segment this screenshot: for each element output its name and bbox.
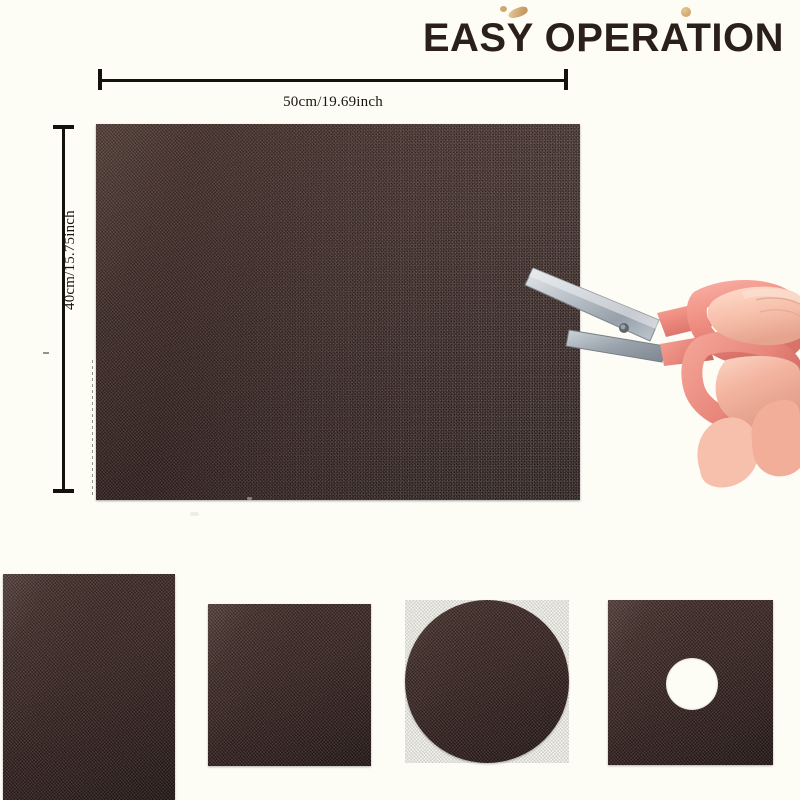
height-dimension-cap-top [53, 125, 74, 129]
cut-shape-circle [405, 600, 569, 763]
height-dimension-label: 40cm/15.75inch [62, 210, 79, 310]
dust-speck [190, 512, 199, 516]
width-dimension-line [98, 79, 568, 82]
cut-shape-square [208, 604, 371, 766]
hand-fingers [698, 287, 800, 488]
edge-guide-tick [43, 352, 49, 354]
edge-guide-dashes [92, 360, 93, 495]
dust-speck [247, 497, 252, 500]
scissors-pivot-screw [619, 323, 629, 333]
cut-shape-rectangle [3, 574, 175, 800]
cut-hole [666, 658, 718, 710]
scissors-blade-lower [566, 330, 665, 362]
width-dimension-label: 50cm/19.69inch [98, 94, 568, 111]
product-mat-main [96, 124, 580, 500]
height-dimension-cap-bottom [53, 489, 74, 493]
cut-shape-square-with-hole [608, 600, 773, 765]
width-dimension-cap-right [564, 69, 568, 90]
width-dimension-cap-left [98, 69, 102, 90]
scissors-handle-shanks [657, 303, 714, 366]
scissors-handle-loops [692, 290, 799, 422]
product-marketing-image: EASY OPERATION 50cm/19.69inch 40cm/15.75… [0, 0, 800, 800]
height-dimension-line [62, 127, 65, 493]
page-title: EASY OPERATION [423, 18, 784, 58]
gold-speck-small-icon [500, 6, 507, 12]
